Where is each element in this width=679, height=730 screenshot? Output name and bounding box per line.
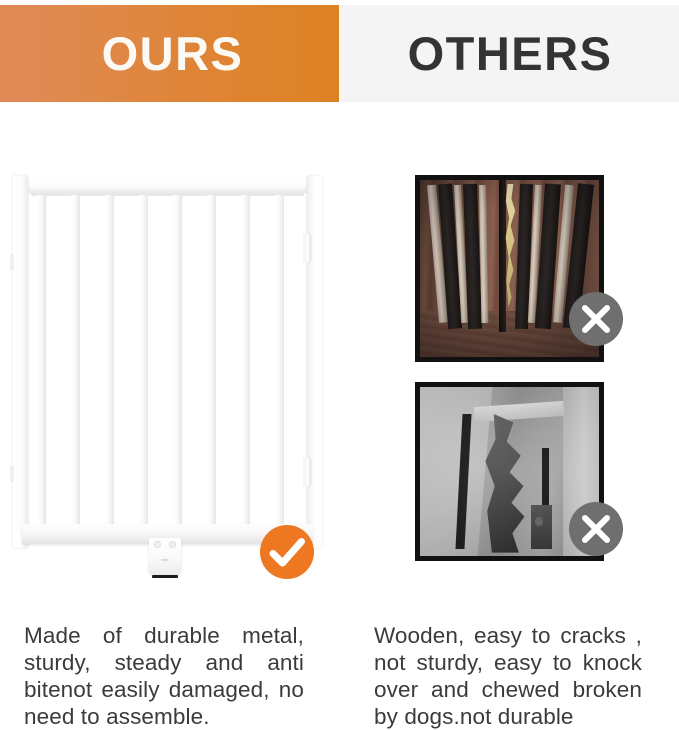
gate-hinge-icon xyxy=(304,458,311,486)
others-caption: Wooden, easy to cracks , not sturdy, eas… xyxy=(374,622,642,730)
gate-bar xyxy=(173,195,182,525)
foot-screw-icon xyxy=(161,559,169,561)
gate-hinge-icon xyxy=(304,234,311,262)
gate-foot-base xyxy=(152,575,178,578)
header-others-panel: OTHERS xyxy=(341,5,679,102)
gate-top-rail xyxy=(22,176,313,193)
gate-right-post xyxy=(307,176,322,548)
screw-hole-icon xyxy=(154,541,161,548)
screw-hole-icon xyxy=(169,541,176,548)
gate-latch-icon xyxy=(10,466,14,482)
header-others-label: OTHERS xyxy=(408,30,613,77)
x-icon xyxy=(569,292,623,346)
check-badge xyxy=(260,525,314,579)
pet-gate-illustration xyxy=(13,176,321,496)
header-ours-label: OURS xyxy=(102,30,244,77)
gate-bar xyxy=(207,195,216,525)
gate-bar xyxy=(37,195,46,525)
comparison-header: OURS OTHERS xyxy=(0,5,679,102)
gate-foot-bracket xyxy=(149,538,181,574)
check-icon xyxy=(260,525,314,579)
gate-latch-icon xyxy=(10,254,14,270)
x-icon xyxy=(569,502,623,556)
x-badge-1 xyxy=(569,292,623,346)
gate-left-post xyxy=(13,176,28,548)
ours-product-image xyxy=(0,150,340,590)
header-ours-panel: OURS xyxy=(0,5,339,102)
gate-bar xyxy=(71,195,80,525)
gate-bar xyxy=(241,195,250,525)
x-badge-2 xyxy=(569,502,623,556)
ours-caption: Made of durable metal, sturdy, steady an… xyxy=(24,622,304,730)
gate-bar xyxy=(139,195,148,525)
gate-bar xyxy=(105,195,114,525)
gate-bar xyxy=(275,195,284,525)
